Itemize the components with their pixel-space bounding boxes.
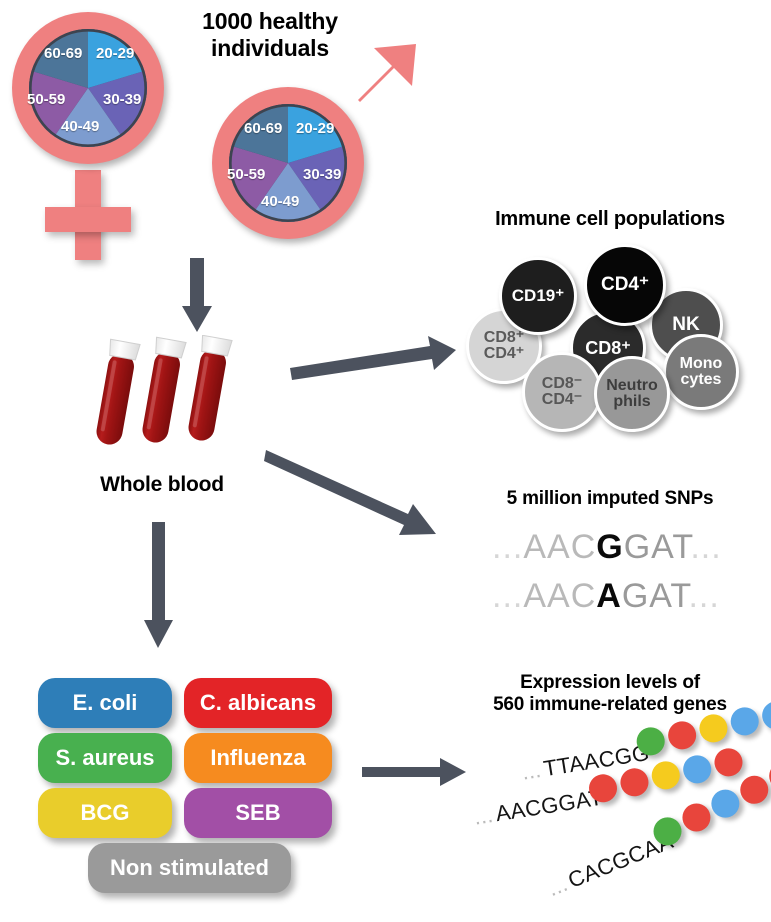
snp-sequence-row-1: ...AACGGAT... <box>492 528 722 567</box>
expression-title: Expression levels of 560 immune-related … <box>450 672 770 717</box>
snp-trailing-dots-2: ... <box>688 577 719 615</box>
stimulation-box-bcg[interactable]: BCG <box>38 788 172 838</box>
immune-cell-neutrophils: Neutro phils <box>594 356 670 432</box>
snp-trailing-dots-1: ... <box>690 528 721 566</box>
snp-leading-dots-2: ... <box>492 577 523 615</box>
snp-suffix-1: GAT <box>624 528 691 566</box>
snp-variant-allele-1: G <box>596 528 623 566</box>
immune-cell-cd4: CD4⁺ <box>584 244 666 326</box>
strand-1-dots: ... <box>520 757 543 786</box>
strand-2-dots: ... <box>472 802 495 831</box>
snp-variant-allele-2: A <box>596 577 622 615</box>
snp-prefix-1: AAC <box>523 528 596 566</box>
stimulation-box-seb[interactable]: SEB <box>184 788 332 838</box>
snp-prefix-2: AAC <box>523 577 596 615</box>
stimulation-box-c-albicans[interactable]: C. albicans <box>184 678 332 728</box>
immune-cell-monocytes: Mono cytes <box>663 334 739 410</box>
snp-suffix-2: GAT <box>622 577 689 615</box>
stimulation-box-e-coli[interactable]: E. coli <box>38 678 172 728</box>
stimulation-box-s-aureus[interactable]: S. aureus <box>38 733 172 783</box>
snp-sequence-row-2: ...AACAGAT... <box>492 577 720 616</box>
immune-cell-cd19: CD19⁺ <box>499 257 577 335</box>
stimulation-box-influenza[interactable]: Influenza <box>184 733 332 783</box>
immune-cell-cd8-cd4-double-negative: CD8⁻ CD4⁻ <box>522 352 602 432</box>
snps-title: 5 million imputed SNPs <box>455 488 765 510</box>
figure-canvas: 1000 healthy individuals 20-29 30-39 40-… <box>0 0 771 922</box>
stimulation-box-non-stimulated[interactable]: Non stimulated <box>88 843 291 893</box>
snp-leading-dots-1: ... <box>492 528 523 566</box>
